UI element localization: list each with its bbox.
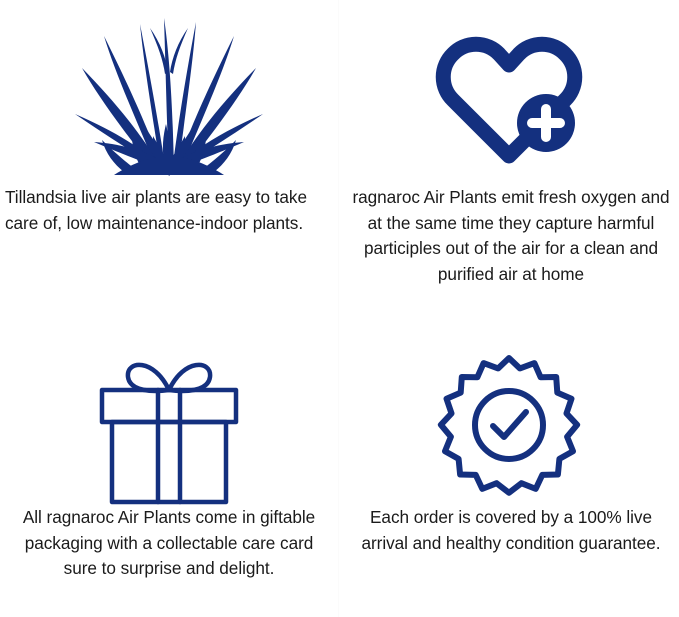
heart-plus-icon [339, 0, 679, 185]
feature-caption: Each order is covered by a 100% live arr… [339, 505, 679, 556]
feature-cell-air-plant: Tillandsia live air plants are easy to t… [0, 0, 339, 308]
feature-caption: Tillandsia live air plants are easy to t… [0, 185, 338, 236]
gift-box-icon [0, 308, 338, 505]
feature-cell-giftable-packaging: All ragnaroc Air Plants come in giftable… [0, 308, 339, 617]
feature-caption: All ragnaroc Air Plants come in giftable… [0, 505, 338, 582]
feature-cell-guarantee: Each order is covered by a 100% live arr… [339, 308, 679, 617]
guarantee-seal-check-icon [339, 308, 679, 505]
feature-cell-fresh-oxygen: ragnaroc Air Plants emit fresh oxygen an… [339, 0, 679, 308]
feature-grid: Tillandsia live air plants are easy to t… [0, 0, 679, 617]
air-plant-icon [0, 0, 338, 185]
feature-caption: ragnaroc Air Plants emit fresh oxygen an… [339, 185, 679, 287]
